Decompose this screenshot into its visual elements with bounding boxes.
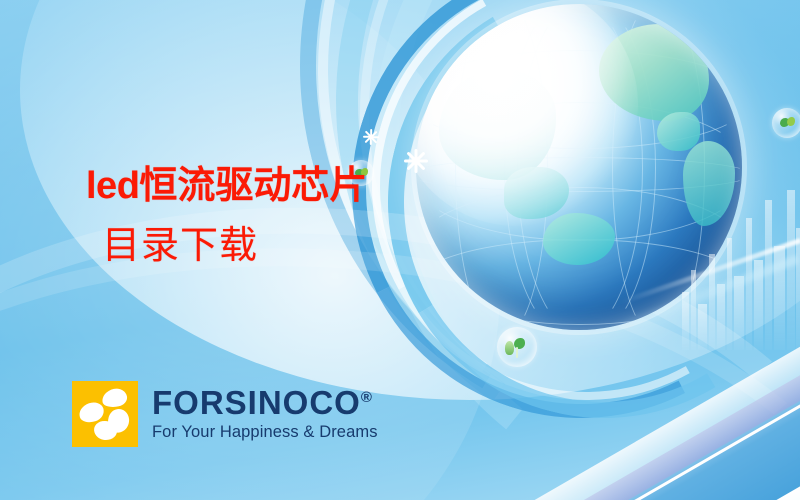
brand-word: FORSINOCO	[152, 384, 361, 421]
company-logo[interactable]: FORSINOCO® For Your Happiness & Dreams	[72, 381, 378, 447]
registered-trademark-icon: ®	[361, 389, 372, 406]
brand-name: FORSINOCO®	[152, 386, 378, 419]
headline-line-1: led恒流驱动芯片	[86, 163, 367, 209]
bubble-seed-stem	[516, 347, 518, 358]
landmass-australia	[543, 213, 615, 265]
bubble-seed-leaf	[787, 117, 795, 126]
landmass-central-america	[657, 112, 699, 151]
globe-meridian	[455, 4, 548, 330]
headline-line-2: 目录下载	[102, 223, 367, 269]
bubble-seed-sprout	[505, 341, 514, 355]
headline-line-1-en: led	[86, 165, 139, 207]
globe-meridian	[517, 4, 656, 330]
bubble-large-lower	[497, 327, 537, 367]
logo-text-block: FORSINOCO® For Your Happiness & Dreams	[152, 386, 378, 442]
bubble-edge-right	[772, 108, 800, 138]
globe-parallel	[416, 50, 742, 150]
landmass-north-america	[599, 24, 710, 122]
starburst-small	[362, 128, 379, 145]
pinwheel-petals-mark	[72, 381, 138, 447]
petal-top	[100, 387, 128, 410]
brand-tagline: For Your Happiness & Dreams	[152, 423, 378, 442]
starburst-large	[403, 148, 428, 173]
globe-meridian	[504, 4, 643, 330]
headline-text: led恒流驱动芯片 目录下载	[86, 163, 367, 270]
promo-banner: led恒流驱动芯片 目录下载 FORSINOCO® For Your Happi…	[0, 0, 800, 500]
headline-line-1-cn: 恒流驱动芯片	[139, 165, 367, 207]
landmass-asia	[439, 69, 556, 180]
globe-specular-highlight	[416, 4, 638, 226]
landmass-southeast-asia	[504, 167, 569, 219]
